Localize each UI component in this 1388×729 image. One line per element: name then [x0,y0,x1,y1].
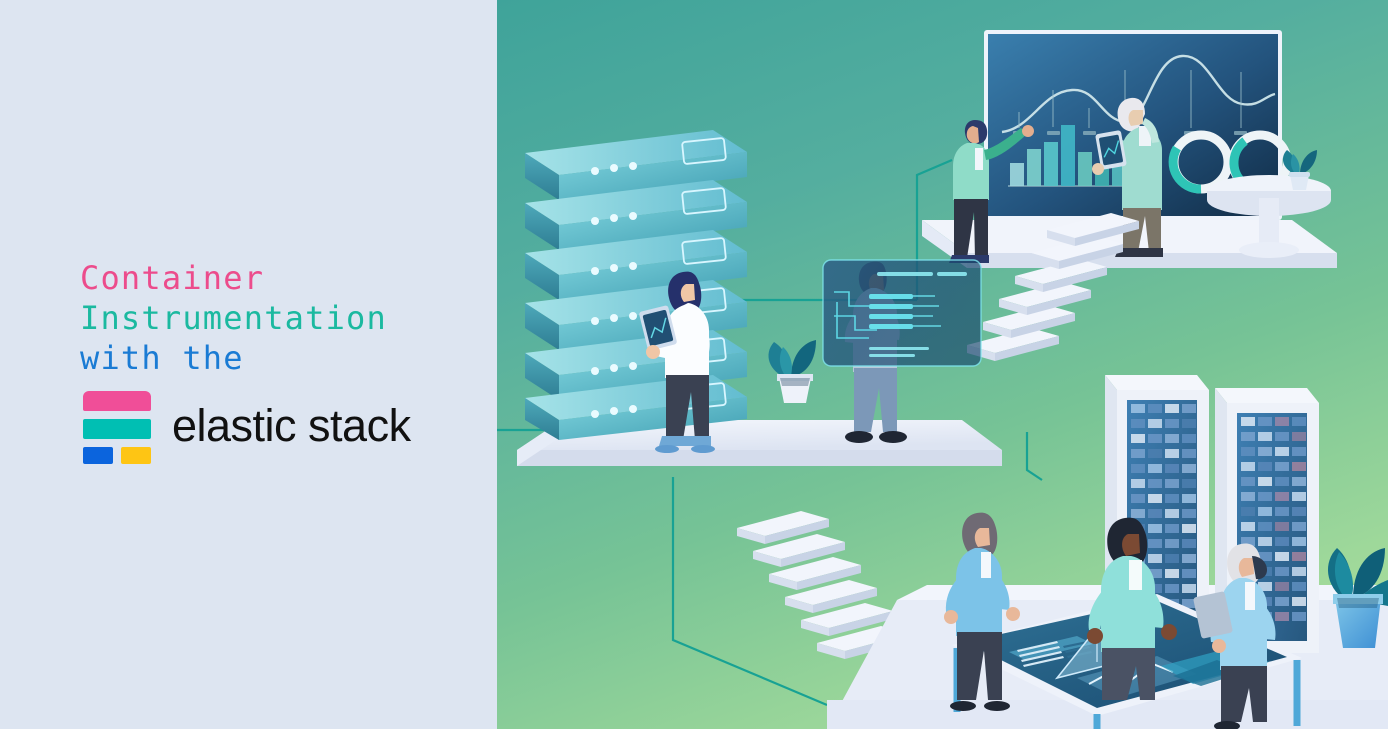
potted-plant-middle [768,340,816,403]
title-line-1: Container [80,258,480,298]
server-slab-stack [525,130,747,440]
title-line-3: with the [80,338,480,378]
elastic-logo-mark-icon [80,388,154,462]
logo-bar-yellow [121,447,151,464]
logo-bar-teal [83,419,151,439]
holographic-screen-with-network-diagram [823,260,981,366]
elastic-wordmark: elastic stack [172,403,411,448]
slide-root: Container Instrumentation with the elast… [0,0,1388,729]
illustration-isometric-datacenter [497,0,1388,729]
title-block: Container Instrumentation with the [80,258,480,378]
logo-bar-blue [83,447,113,464]
elastic-logo: elastic stack [80,388,411,462]
logo-bar-pink [83,391,151,411]
illustration-svg [497,0,1388,729]
title-line-2: Instrumentation [80,298,480,338]
title-panel: Container Instrumentation with the elast… [0,0,497,729]
